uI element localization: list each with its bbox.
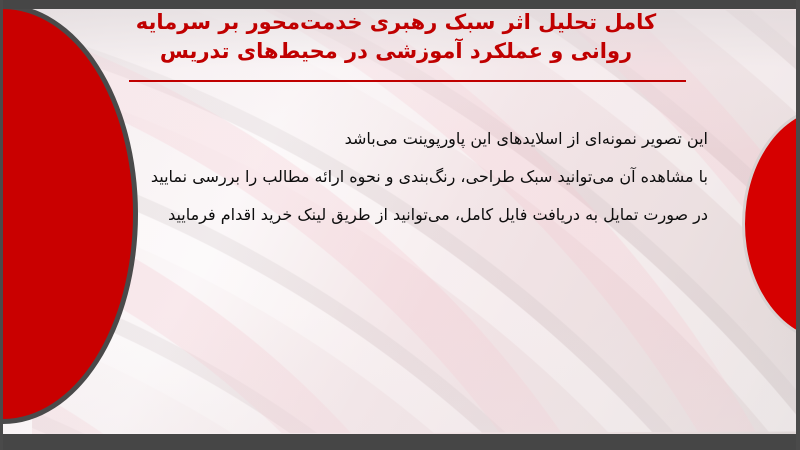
slide-title: کامل تحلیل اثر سبک رهبری خدمت‌محور بر سر… bbox=[104, 8, 688, 66]
slide-content: کامل تحلیل اثر سبک رهبری خدمت‌محور بر سر… bbox=[0, 0, 800, 450]
slide-body-line-2: با مشاهده آن می‌توانید سبک طراحی، رنگ‌بن… bbox=[92, 158, 708, 196]
frame-bar-bottom bbox=[0, 434, 800, 450]
title-underline-rule bbox=[129, 80, 686, 82]
frame-bar-right bbox=[796, 0, 800, 450]
slide-body: این تصویر نمونه‌ای از اسلایدهای این پاور… bbox=[92, 120, 708, 234]
presentation-slide: کامل تحلیل اثر سبک رهبری خدمت‌محور بر سر… bbox=[0, 0, 800, 450]
slide-body-line-1: این تصویر نمونه‌ای از اسلایدهای این پاور… bbox=[92, 120, 708, 158]
frame-bar-left bbox=[0, 0, 3, 450]
slide-body-line-3: در صورت تمایل به دریافت فایل کامل، می‌تو… bbox=[92, 196, 708, 234]
slide-title-line-2: روانی و عملکرد آموزشی در محیط‌های تدریس bbox=[104, 37, 688, 66]
frame-bar-top bbox=[0, 0, 800, 9]
slide-title-line-1: کامل تحلیل اثر سبک رهبری خدمت‌محور بر سر… bbox=[104, 8, 688, 37]
